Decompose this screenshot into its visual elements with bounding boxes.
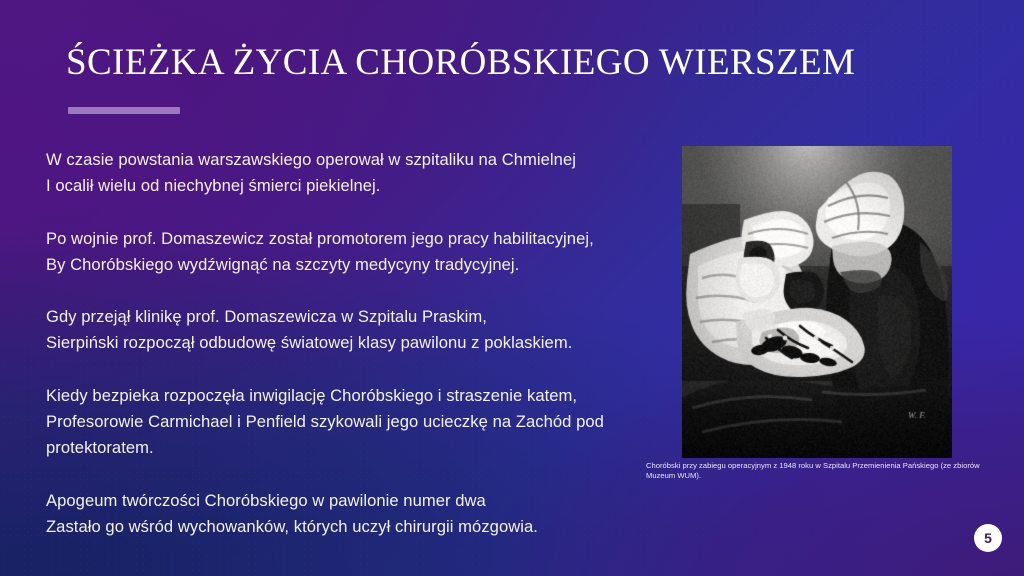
poem-line: Gdy przejął klinikę prof. Domaszewicza w… (46, 307, 487, 326)
poem-body: W czasie powstania warszawskiego operowa… (46, 147, 666, 540)
poem-line: Sierpiński rozpoczął odbudowę światowej … (46, 333, 572, 352)
poem-line: Apogeum twórczości Choróbskiego w pawilo… (46, 491, 486, 510)
poem-stanza: Po wojnie prof. Domaszewicz został promo… (46, 226, 666, 278)
photograph-canvas (682, 146, 952, 458)
poem-line: Kiedy bezpieka rozpoczęła inwigilację Ch… (46, 386, 577, 405)
poem-line: W czasie powstania warszawskiego operowa… (46, 150, 576, 169)
poem-line: By Choróbskiego wydźwignąć na szczyty me… (46, 255, 519, 274)
title-accent-bar (68, 107, 180, 114)
poem-line: Po wojnie prof. Domaszewicz został promo… (46, 229, 594, 248)
poem-stanza: Apogeum twórczości Choróbskiego w pawilo… (46, 488, 666, 540)
historical-photograph (682, 146, 952, 458)
poem-stanza: W czasie powstania warszawskiego operowa… (46, 147, 666, 199)
slide-title: ŚCIEŻKA ŻYCIA CHORÓBSKIEGO WIERSZEM (66, 41, 966, 85)
poem-line: Zastało go wśród wychowanków, których uc… (46, 517, 538, 536)
presentation-slide: ŚCIEŻKA ŻYCIA CHORÓBSKIEGO WIERSZEM W cz… (0, 0, 1024, 576)
photograph-caption: Choróbski przy zabiegu operacyjnym z 194… (646, 461, 1002, 482)
page-number-badge: 5 (974, 524, 1002, 552)
poem-line: Profesorowie Carmichael i Penfield szyko… (46, 412, 604, 457)
poem-stanza: Gdy przejął klinikę prof. Domaszewicza w… (46, 304, 666, 356)
poem-line: I ocalił wielu od niechybnej śmierci pie… (46, 176, 380, 195)
poem-stanza: Kiedy bezpieka rozpoczęła inwigilację Ch… (46, 383, 666, 462)
